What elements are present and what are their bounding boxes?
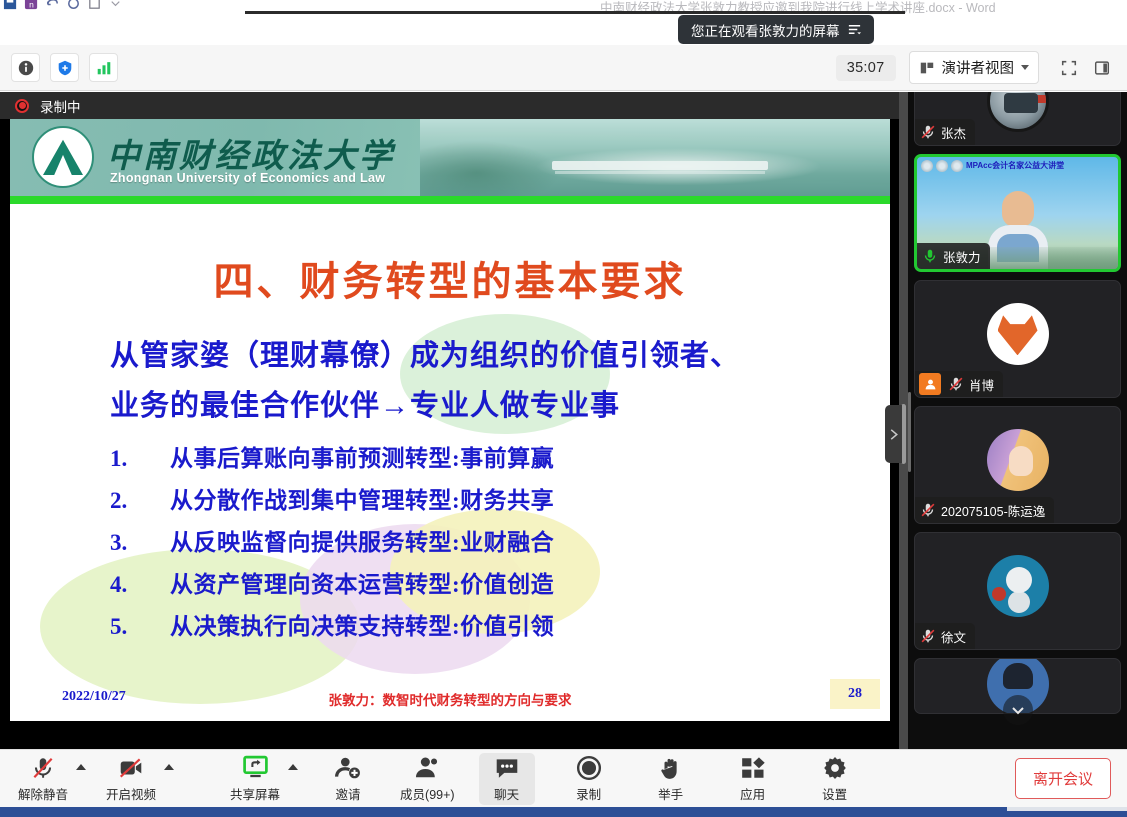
settings-gear-icon: [822, 755, 848, 781]
invite-label: 邀请: [336, 784, 361, 803]
university-logo: [32, 126, 94, 188]
chevron-right-icon: [889, 428, 899, 441]
participant-name: 张敦力: [943, 247, 981, 266]
recording-indicator-icon: [15, 99, 29, 113]
start-video-label: 开启视频: [106, 784, 156, 803]
participant-tile[interactable]: 徐文: [914, 532, 1121, 650]
university-name-cn: 中南财经政法大学: [107, 129, 395, 177]
redo-icon[interactable]: [66, 0, 81, 11]
host-person-icon: [924, 378, 937, 391]
mic-muted-icon: [919, 627, 937, 645]
participant-name: 肖博: [969, 375, 994, 394]
list-item-text: 从反映监督向提供服务转型:业财融合: [170, 523, 554, 557]
audio-options-chevron-icon[interactable]: [76, 764, 86, 770]
list-item-number: 5.: [110, 614, 170, 640]
list-item-text: 从分散作战到集中管理转型:财务共享: [170, 481, 554, 515]
unmute-label: 解除静音: [18, 784, 68, 803]
list-item-text: 从事后算账向事前预测转型:事前算赢: [170, 439, 554, 473]
fullscreen-icon[interactable]: [1054, 53, 1083, 82]
video-off-icon: [118, 755, 144, 781]
word-quick-access-toolbar[interactable]: n: [0, 0, 123, 11]
mic-muted-icon: [947, 375, 965, 393]
participant-name: 徐文: [941, 627, 966, 646]
list-item: 3. 从反映监督向提供服务转型:业财融合: [110, 523, 810, 565]
list-item-text: 从决策执行向决策支持转型:价值引领: [170, 607, 554, 641]
list-item: 1. 从事后算账向事前预测转型:事前算赢: [110, 439, 810, 481]
shared-screen-area: 录制中 中南财经政法大学 Zhongnan University of Econ…: [0, 92, 908, 749]
participant-name-chip: 肖博: [915, 371, 1003, 397]
view-selector-label: 演讲者视图: [942, 57, 1015, 78]
video-options-chevron-icon[interactable]: [164, 764, 174, 770]
chevron-down-icon: [1021, 65, 1029, 70]
slide-page-number: 28: [830, 679, 880, 709]
avatar: [987, 92, 1049, 132]
seal-icon: [921, 160, 933, 172]
avatar: [987, 555, 1049, 617]
participants-icon: [414, 755, 440, 781]
apps-label: 应用: [740, 784, 765, 803]
print-preview-icon[interactable]: [87, 0, 102, 11]
video-overlay-ticker: MPAcc会计名家公益大讲堂: [917, 157, 1118, 174]
view-selector[interactable]: 演讲者视图: [909, 51, 1040, 84]
invite-button[interactable]: 邀请: [320, 753, 376, 805]
autosave-icon[interactable]: n: [24, 0, 39, 11]
record-label: 录制: [576, 784, 601, 803]
host-badge: [919, 373, 941, 395]
split-view-icon[interactable]: [1087, 53, 1116, 82]
share-screen-label: 共享屏幕: [230, 784, 280, 803]
os-taskbar[interactable]: [0, 807, 1127, 817]
slide-lead-line: 业务的最佳合作伙伴→专业人做专业事: [110, 382, 620, 424]
meeting-info-icon[interactable]: [11, 53, 40, 82]
svg-text:n: n: [29, 0, 34, 9]
participant-name-chip: 徐文: [915, 623, 975, 649]
participants-label: 成员(99+): [400, 784, 455, 803]
meeting-timer: 35:07: [836, 55, 896, 81]
chat-button[interactable]: 聊天: [479, 753, 535, 805]
security-shield-icon[interactable]: [50, 53, 79, 82]
list-item: 2. 从分散作战到集中管理转型:财务共享: [110, 481, 810, 523]
raise-hand-button[interactable]: 举手: [643, 753, 699, 805]
raise-hand-label: 举手: [658, 784, 683, 803]
participant-tile-active-speaker[interactable]: MPAcc会计名家公益大讲堂 张敦力: [914, 154, 1121, 272]
presentation-slide: 中南财经政法大学 Zhongnan University of Economic…: [10, 119, 890, 721]
list-item: 4. 从资产管理向资本运营转型:价值创造: [110, 565, 810, 607]
settings-label: 设置: [822, 784, 847, 803]
participants-button[interactable]: 成员(99+): [394, 753, 461, 805]
slide-title: 四、财务转型的基本要求: [10, 249, 890, 307]
invite-icon: [335, 755, 361, 781]
seal-icon: [936, 160, 948, 172]
save-icon[interactable]: [3, 0, 18, 11]
share-screen-icon: [242, 755, 269, 781]
participant-tile[interactable]: 肖博: [914, 280, 1121, 398]
participant-name: 202075105-陈运逸: [941, 501, 1045, 520]
meeting-controls-toolbar: 解除静音 开启视频 共享屏幕 邀请 成员(99+) 聊天: [0, 749, 1127, 807]
mic-muted-icon: [919, 123, 937, 141]
layout-icon: [919, 60, 935, 76]
participant-name-chip: 202075105-陈运逸: [915, 497, 1054, 523]
share-options-chevron-icon[interactable]: [288, 764, 298, 770]
participant-name: 张杰: [941, 123, 966, 142]
viewing-screen-label: 您正在观看张敦力的屏幕: [691, 20, 840, 40]
recording-label: 录制中: [40, 96, 81, 116]
participants-scrollbar[interactable]: [908, 392, 911, 472]
mic-muted-icon: [919, 501, 937, 519]
share-screen-button[interactable]: 共享屏幕: [224, 753, 286, 805]
slide-lead-line: 从管家婆（理财幕僚）成为组织的价值引领者、: [110, 332, 740, 374]
apps-button[interactable]: 应用: [725, 753, 781, 805]
bridge-photo: [420, 119, 890, 196]
unmute-button[interactable]: 解除静音: [12, 753, 74, 805]
list-item-number: 2.: [110, 488, 170, 514]
settings-button[interactable]: 设置: [807, 753, 863, 805]
apps-icon: [740, 755, 766, 781]
slide-bullet-list: 1. 从事后算账向事前预测转型:事前算赢 2. 从分散作战到集中管理转型:财务共…: [110, 439, 810, 649]
panel-collapse-handle[interactable]: [885, 405, 902, 463]
viewing-screen-banner: 您正在观看张敦力的屏幕: [678, 15, 874, 44]
raise-hand-icon: [658, 755, 684, 781]
banner-divider: [10, 196, 890, 204]
start-video-button[interactable]: 开启视频: [100, 753, 162, 805]
more-options-icon[interactable]: [840, 15, 870, 44]
video-ticker-text: MPAcc会计名家公益大讲堂: [966, 160, 1064, 171]
mic-muted-icon: [30, 755, 56, 781]
avatar: [987, 429, 1049, 491]
list-item-number: 3.: [110, 530, 170, 556]
list-item-text: 从资产管理向资本运营转型:价值创造: [170, 565, 554, 599]
list-item-number: 4.: [110, 572, 170, 598]
taskbar-tray[interactable]: [1007, 807, 1127, 811]
mic-unmuted-icon: [921, 247, 939, 265]
list-item-number: 1.: [110, 446, 170, 472]
chat-label: 聊天: [494, 784, 519, 803]
slide-banner: 中南财经政法大学 Zhongnan University of Economic…: [10, 119, 890, 196]
record-icon: [576, 755, 602, 781]
participant-tile[interactable]: 张杰: [914, 92, 1121, 146]
avatar: [987, 303, 1049, 365]
participant-tile[interactable]: 202075105-陈运逸: [914, 406, 1121, 524]
participants-panel[interactable]: 张杰 MPAcc会计名家公益大讲堂 张敦力: [908, 92, 1127, 749]
list-item: 5. 从决策执行向决策支持转型:价值引领: [110, 607, 810, 649]
record-button[interactable]: 录制: [561, 753, 617, 805]
leave-meeting-button[interactable]: 离开会议: [1015, 758, 1111, 799]
slide-footer-title: 张敦力：数智时代财务转型的方向与要求: [10, 689, 890, 709]
network-stats-icon[interactable]: [89, 53, 118, 82]
undo-icon[interactable]: [45, 0, 60, 11]
meeting-top-toolbar: 35:07 演讲者视图: [0, 45, 1127, 91]
customize-qat-icon[interactable]: [108, 0, 123, 11]
chat-icon: [494, 755, 520, 781]
recording-bar: 录制中: [0, 92, 908, 119]
participant-name-chip: 张敦力: [917, 243, 990, 269]
chevron-down-icon[interactable]: [1003, 695, 1033, 725]
seal-icon: [951, 160, 963, 172]
participant-name-chip: 张杰: [915, 119, 975, 145]
word-ribbon-edge: [245, 11, 905, 14]
university-name-en: Zhongnan University of Economics and Law: [110, 171, 385, 185]
word-window-strip: n 中南财经政法大学张敦力教授应邀到我院进行线上学术讲座.docx - Word: [0, 0, 1127, 14]
